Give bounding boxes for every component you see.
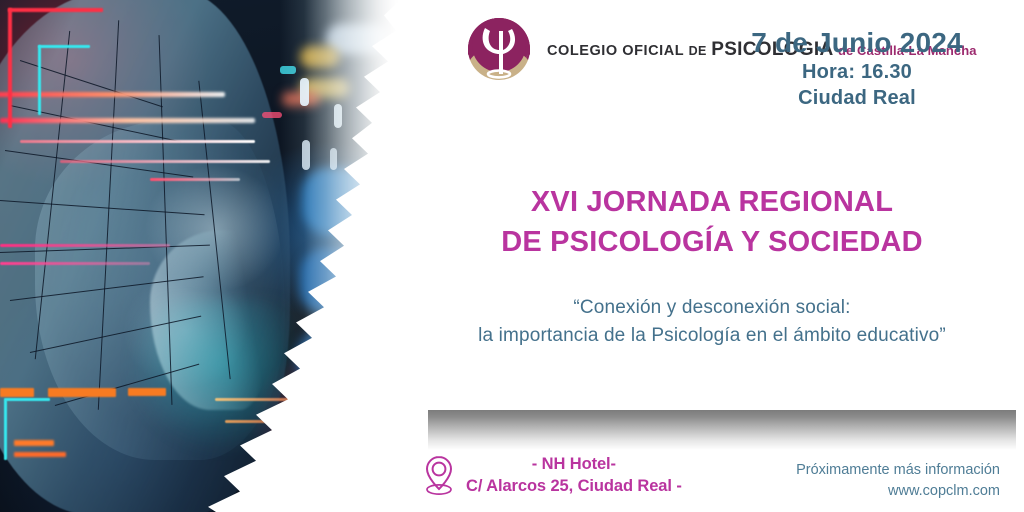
circuit-trace (128, 388, 166, 396)
logo-line-2-prefix: DE (689, 44, 707, 58)
neon-streak (150, 178, 240, 181)
circuit-trace (14, 440, 54, 446)
light-dash (262, 112, 282, 118)
bokeh-panel (290, 410, 362, 472)
website-url[interactable]: www.copclm.com (796, 481, 1000, 502)
event-time: Hora: 16.30 (712, 59, 1002, 85)
hero-edge-sheen (280, 0, 400, 512)
event-city: Ciudad Real (712, 85, 1002, 111)
neon-streak (0, 118, 255, 123)
neon-streak (20, 140, 255, 143)
more-info-text: Próximamente más información (796, 460, 1000, 481)
circuit-trace (8, 8, 103, 12)
bokeh-panel (320, 432, 378, 486)
logo-line-1: COLEGIO OFICIAL (547, 43, 684, 59)
venue-block: - NH Hotel- C/ Alarcos 25, Ciudad Real - (422, 454, 682, 498)
circuit-trace (38, 45, 90, 48)
gradient-divider (428, 410, 1016, 450)
event-date: 7 de Junio 2024 (712, 26, 1002, 59)
poster-footer: - NH Hotel- C/ Alarcos 25, Ciudad Real -… (400, 452, 1024, 512)
poster-content: COLEGIO OFICIAL DE PSICOLOGIA de Castill… (400, 0, 1024, 512)
ai-face-image (0, 0, 400, 512)
neon-streak (60, 160, 270, 163)
venue-text: - NH Hotel- C/ Alarcos 25, Ciudad Real - (466, 454, 682, 498)
event-subtitle: “Conexión y desconexión social: la impor… (400, 294, 1024, 349)
event-date-block: 7 de Junio 2024 Hora: 16.30 Ciudad Real (712, 26, 1002, 111)
circuit-trace (8, 8, 12, 128)
event-poster: COLEGIO OFICIAL DE PSICOLOGIA de Castill… (0, 0, 1024, 512)
neon-streak (0, 262, 150, 265)
subtitle-line-1: “Conexión y desconexión social: (400, 294, 1024, 322)
subtitle-line-2: la importancia de la Psicología en el ám… (400, 322, 1024, 350)
neon-streak (215, 398, 335, 401)
more-info-block: Próximamente más información www.copclm.… (796, 460, 1000, 501)
circuit-trace (38, 45, 41, 115)
copclm-psi-logo-icon (462, 12, 536, 86)
map-pin-icon (422, 454, 456, 498)
venue-line-2: C/ Alarcos 25, Ciudad Real - (466, 476, 682, 498)
neon-streak (0, 244, 170, 247)
page-title: XVI JORNADA REGIONAL DE PSICOLOGÍA Y SOC… (400, 182, 1024, 262)
venue-line-1: - NH Hotel- (466, 454, 682, 476)
title-line-1: XVI JORNADA REGIONAL (400, 182, 1024, 222)
circuit-trace (48, 388, 116, 397)
circuit-trace (0, 388, 34, 397)
neon-streak (0, 92, 225, 97)
circuit-trace (4, 398, 50, 401)
title-line-2: DE PSICOLOGÍA Y SOCIEDAD (400, 222, 1024, 262)
neon-streak (225, 420, 340, 423)
circuit-trace (14, 452, 66, 457)
circuit-trace (4, 400, 7, 460)
